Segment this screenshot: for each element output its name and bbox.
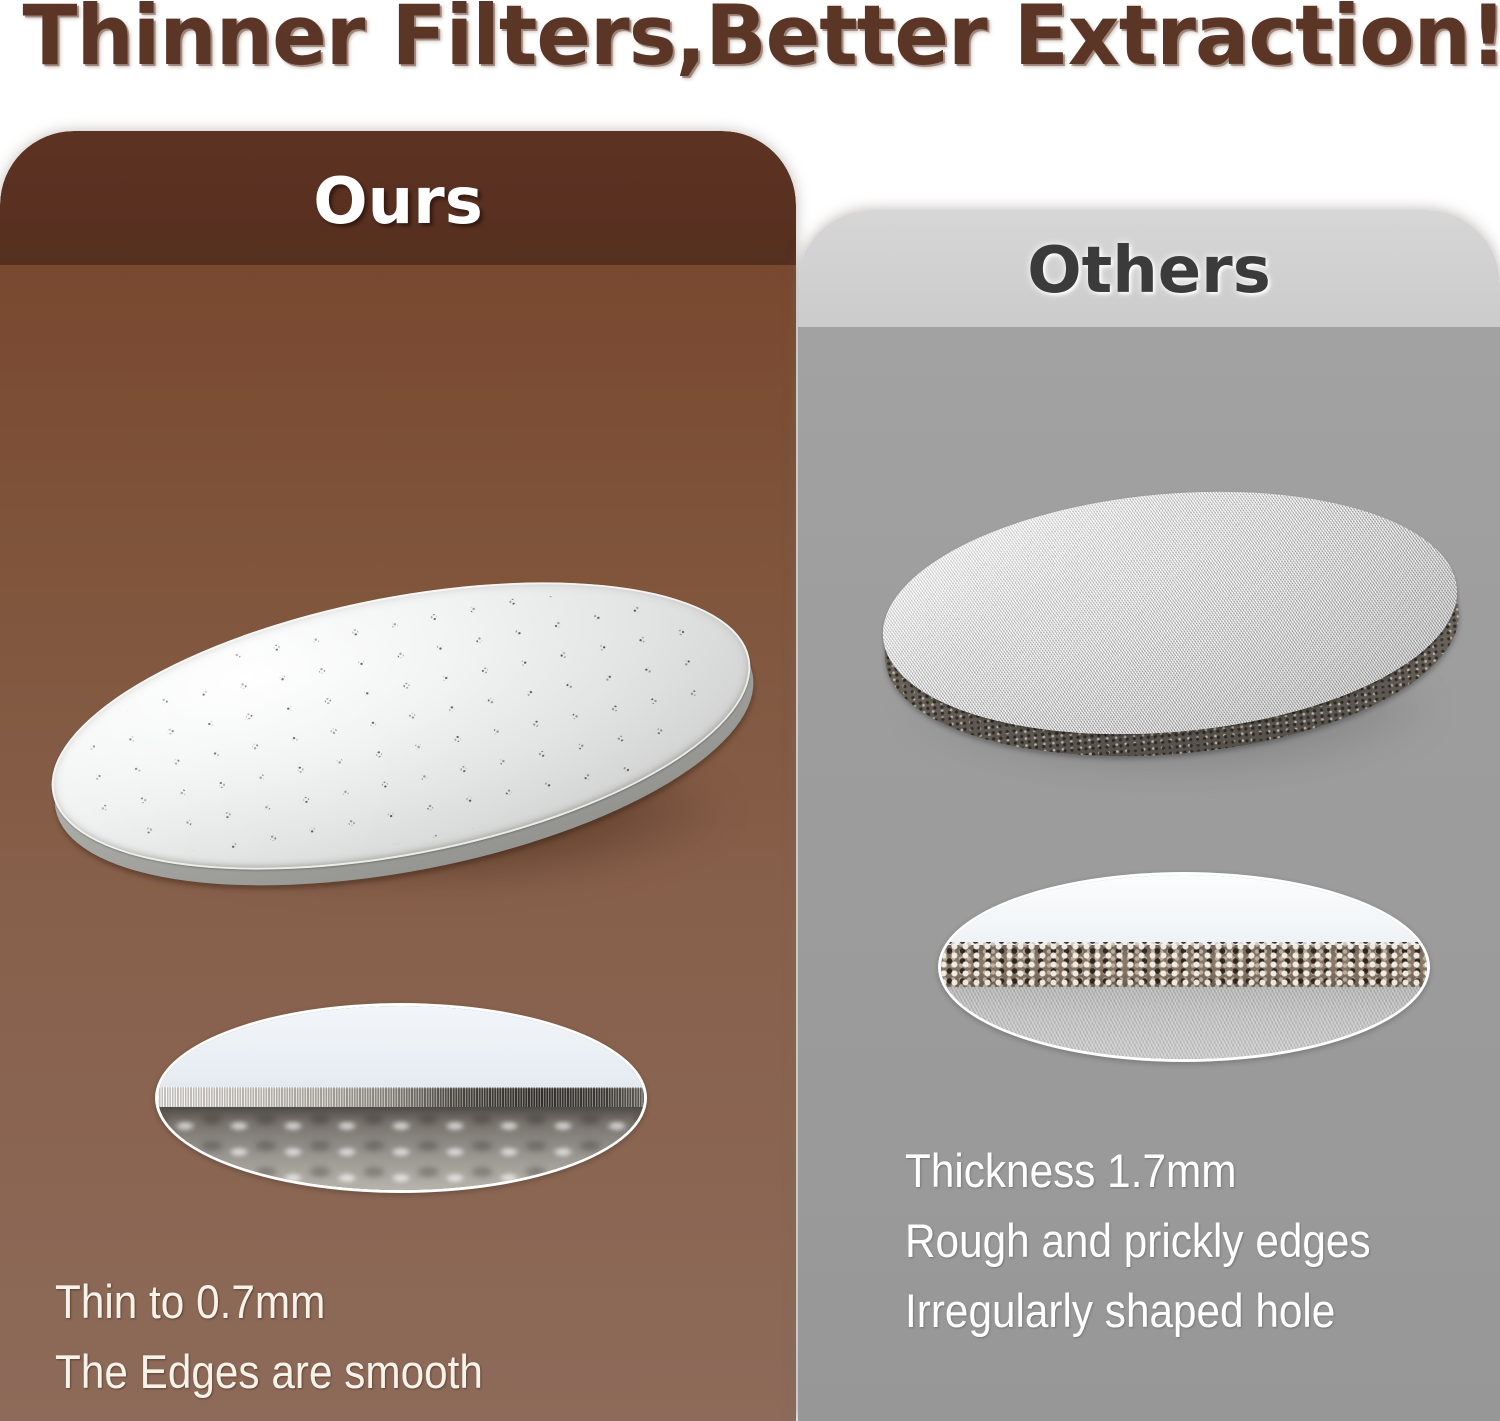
feature-item: The Edges are smooth bbox=[55, 1337, 685, 1407]
feature-item: Thickness 1.7mm bbox=[905, 1136, 1409, 1206]
panel-label-ours: Ours bbox=[0, 165, 796, 239]
feature-item: Thin to 0.7mm bbox=[55, 1267, 685, 1337]
feature-item: Rough and prickly edges bbox=[905, 1206, 1409, 1276]
feature-list-others: Thickness 1.7mm Rough and prickly edges … bbox=[905, 1136, 1465, 1346]
page-title: Thinner Filters,Better Extraction! bbox=[23, 0, 1478, 79]
dimple-shadows bbox=[158, 1107, 644, 1190]
feature-list-ours: Thin to 0.7mm The Edges are smooth Unifo… bbox=[55, 1267, 755, 1421]
closeup-background bbox=[941, 875, 1427, 952]
perforated-filter-disc-image bbox=[30, 569, 770, 889]
comparison-panel-ours: Ours Thin to 0.7mm The Edges are smooth … bbox=[0, 131, 796, 1421]
feature-item: Irregularly shaped hole bbox=[905, 1276, 1409, 1346]
panel-label-others: Others bbox=[798, 234, 1500, 308]
smooth-edge-closeup-image bbox=[155, 1003, 647, 1193]
closeup-background bbox=[158, 1006, 644, 1091]
woven-mesh-filter-disc-image bbox=[860, 476, 1480, 776]
smooth-edge-band bbox=[158, 1087, 644, 1109]
closeup-mesh-surface bbox=[941, 987, 1427, 1059]
closeup-plate-surface bbox=[158, 1107, 644, 1190]
rough-edge-band bbox=[941, 945, 1427, 991]
feature-item: Uniform perforation distribution bbox=[55, 1407, 685, 1421]
rough-edge-closeup-image bbox=[938, 872, 1430, 1062]
infographic-canvas: Thinner Filters,Better Extraction! Ours bbox=[0, 0, 1500, 1421]
